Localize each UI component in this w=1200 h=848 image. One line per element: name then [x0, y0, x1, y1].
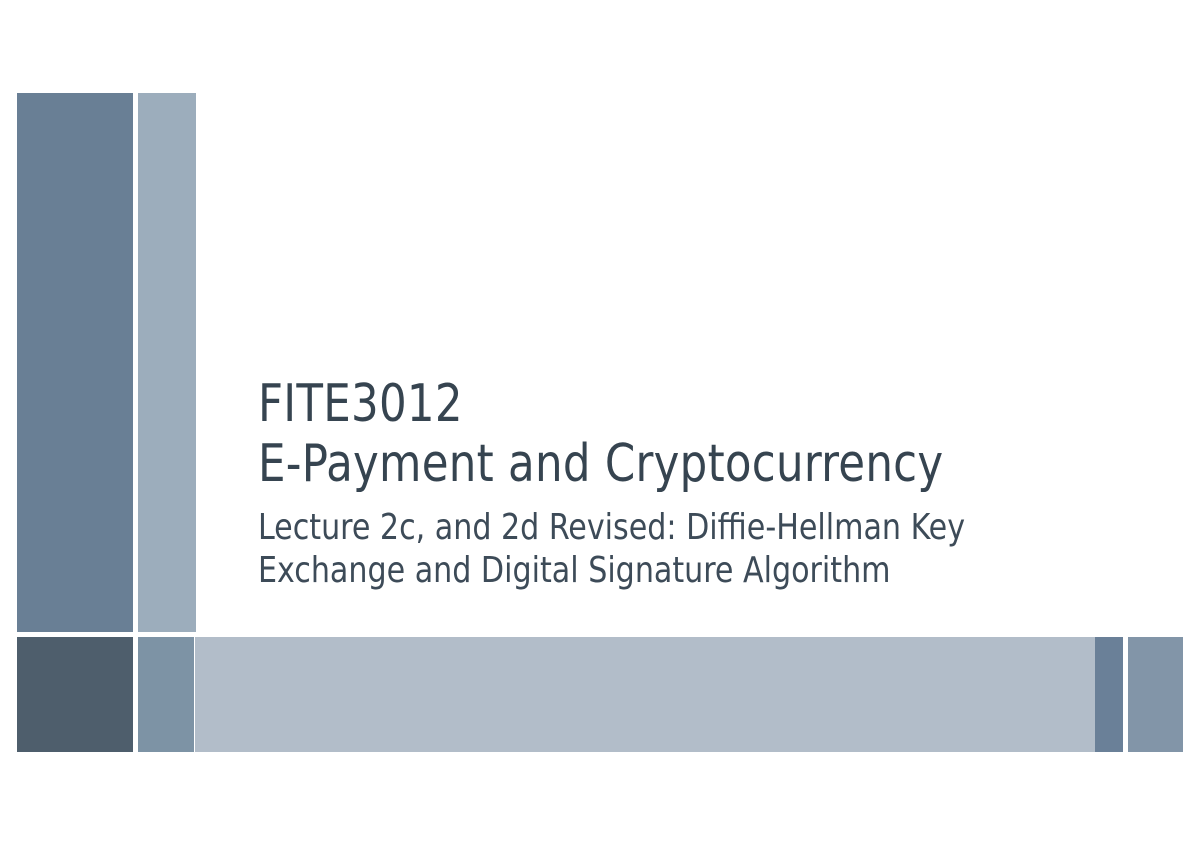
- slide-title: FITE3012 E-Payment and Cryptocurrency: [258, 374, 1076, 494]
- decor-band-dark: [17, 637, 133, 752]
- decor-bar-left-light: [138, 93, 196, 632]
- decor-bar-left-dark: [17, 93, 133, 632]
- decor-band-accent: [1095, 637, 1123, 752]
- decor-band-right: [1128, 637, 1183, 752]
- slide-text-block: FITE3012 E-Payment and Cryptocurrency Le…: [258, 374, 1138, 592]
- title-slide: FITE3012 E-Payment and Cryptocurrency Le…: [0, 0, 1200, 848]
- decor-band-wide: [195, 637, 1095, 752]
- slide-subtitle: Lecture 2c, and 2d Revised: Diffie-Hellm…: [258, 506, 1076, 592]
- decor-band-mid: [138, 637, 194, 752]
